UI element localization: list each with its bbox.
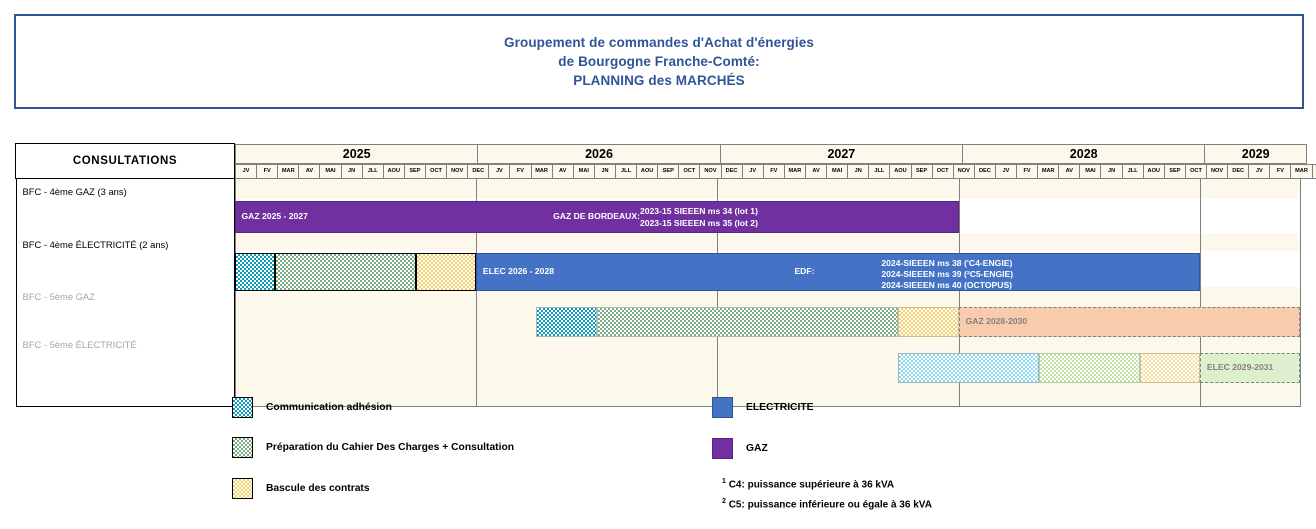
chart-body-row: BFC - 4ème GAZ (3 ans)BFC - 4ème ÉLECTRI…: [16, 179, 1301, 408]
month-header-2025-MAR: MAR: [278, 164, 299, 178]
month-header-2028-NOV: NOV: [1207, 164, 1228, 178]
row-label-0: BFC - 4ème GAZ (3 ans): [17, 186, 127, 197]
title-line-1: Groupement de commandes d'Achat d'énergi…: [504, 33, 814, 52]
gantt-bar-label-0-0: GAZ 2025 - 2027: [242, 211, 308, 222]
month-header-cell: JVFVMARAVMAIJNJLLAOUSEPOCTNOVDECJVFVMARA…: [235, 164, 1301, 179]
month-header-2028-MAI: MAI: [1080, 164, 1101, 178]
footnote-2-marker: 2: [722, 498, 726, 505]
gantt-bar-1-communication: [235, 253, 275, 291]
month-header-2028-AV: AV: [1059, 164, 1080, 178]
year-header-2025: 2025: [236, 144, 478, 163]
month-header-2025-SEP: SEP: [404, 164, 425, 178]
legend-item-preparation: Préparation du Cahier Des Charges + Cons…: [232, 437, 514, 458]
gantt-bar-label-0-2: 2023-15 SIEEEN ms 34 (lot 1): [640, 206, 758, 217]
month-header-2025-JV: JV: [236, 164, 257, 178]
gantt-bar-1-electricite: [476, 253, 1200, 291]
month-header-2025-AV: AV: [299, 164, 320, 178]
gantt-bar-label-4-1: EDF:: [794, 266, 814, 277]
gantt-bar-2-bascule: [898, 307, 958, 337]
month-header-2026-MAI: MAI: [573, 164, 594, 178]
gantt-bar-label-4-2: 2024-SIEEEN ms 38 ('C4-ENGIE): [881, 258, 1012, 269]
title-line-3: PLANNING des MARCHÉS: [573, 71, 745, 90]
legend-label-electricite: ELECTRICITE: [746, 402, 814, 413]
gantt-bar-label-8-0: GAZ 2028-2030: [966, 316, 1028, 327]
month-header-2025-JN: JN: [341, 164, 362, 178]
swatch-electricite-icon: [712, 397, 733, 418]
footnote-1-marker: 1: [722, 478, 726, 485]
month-header-2026-MAR: MAR: [531, 164, 552, 178]
year-header-row: CONSULTATIONS 20252026202720282029: [16, 144, 1301, 164]
swatch-gaz-icon: [712, 438, 733, 459]
consultations-header: CONSULTATIONS: [16, 144, 235, 179]
month-header-2026-AV: AV: [552, 164, 573, 178]
row-label-2: BFC - 5ème GAZ: [17, 291, 95, 302]
month-header-2028-AOU: AOU: [1143, 164, 1164, 178]
planning-page: Groupement de commandes d'Achat d'énergi…: [0, 0, 1316, 529]
gantt-bar-label-4-4: 2024-SIEEEN ms 40 (OCTOPUS): [881, 280, 1012, 291]
gantt-bar-label-4-0: ELEC 2026 - 2028: [483, 266, 554, 277]
month-header-2028-MAR: MAR: [1038, 164, 1059, 178]
legend-item-electricite: ELECTRICITE: [712, 397, 814, 418]
swatch-preparation-icon: [232, 437, 253, 458]
gantt-bar-3-preparation: [1039, 353, 1140, 383]
gantt-bar-2-communication: [536, 307, 596, 337]
month-header-2026-FV: FV: [510, 164, 531, 178]
month-header-2026-DEC: DEC: [721, 164, 742, 178]
legend-label-preparation: Préparation du Cahier Des Charges + Cons…: [266, 442, 514, 453]
year-header-2027: 2027: [720, 144, 962, 163]
gantt-bar-label-12-0: ELEC 2029-2031: [1207, 362, 1273, 373]
month-header-2028-JLL: JLL: [1122, 164, 1143, 178]
month-strip: JVFVMARAVMAIJNJLLAOUSEPOCTNOVDECJVFVMARA…: [235, 164, 1316, 179]
month-header-2025-AOU: AOU: [383, 164, 404, 178]
month-header-2028-JN: JN: [1101, 164, 1122, 178]
year-header-2026: 2026: [478, 144, 720, 163]
month-header-2025-MAI: MAI: [320, 164, 341, 178]
year-header-2028: 2028: [963, 144, 1205, 163]
row-label-3: BFC - 5ème ÉLECTRICITÉ: [17, 339, 137, 350]
month-header-2025-OCT: OCT: [425, 164, 446, 178]
month-header-2027-OCT: OCT: [932, 164, 953, 178]
month-header-2026-JN: JN: [594, 164, 615, 178]
month-header-2025-DEC: DEC: [468, 164, 489, 178]
month-header-2028-DEC: DEC: [1228, 164, 1249, 178]
month-header-2028-OCT: OCT: [1185, 164, 1206, 178]
month-header-2026-NOV: NOV: [700, 164, 721, 178]
month-header-2027-DEC: DEC: [974, 164, 995, 178]
month-header-2027-FV: FV: [763, 164, 784, 178]
month-header-2027-NOV: NOV: [953, 164, 974, 178]
year-header-2029: 2029: [1205, 144, 1307, 163]
month-header-2027-JN: JN: [848, 164, 869, 178]
gantt-bar-2-preparation: [597, 307, 899, 337]
month-header-2028-FV: FV: [1017, 164, 1038, 178]
year-header-cell: 20252026202720282029: [235, 144, 1301, 164]
gantt-bar-label-0-1: GAZ DE BORDEAUX:: [553, 211, 640, 222]
month-header-2026-SEP: SEP: [658, 164, 679, 178]
swatch-communication-icon: [232, 397, 253, 418]
footnote-2-text: C5: puissance inférieure ou égale à 36 k…: [729, 499, 932, 510]
month-header-2025-NOV: NOV: [447, 164, 468, 178]
month-header-2026-OCT: OCT: [679, 164, 700, 178]
month-header-2029-AV: AV: [1312, 164, 1316, 178]
legend-item-communication: Communication adhésion: [232, 397, 392, 418]
legend-label-gaz: GAZ: [746, 443, 768, 454]
month-header-2026-AOU: AOU: [637, 164, 658, 178]
month-header-2027-MAR: MAR: [784, 164, 805, 178]
month-header-2027-MAI: MAI: [827, 164, 848, 178]
gantt-bar-3-bascule: [1140, 353, 1200, 383]
month-header-2025-JLL: JLL: [362, 164, 383, 178]
swatch-bascule-icon: [232, 478, 253, 499]
legend-item-bascule: Bascule des contrats: [232, 478, 370, 499]
legend: Communication adhésion Préparation du Ca…: [0, 392, 1316, 522]
row-label-column: BFC - 4ème GAZ (3 ans)BFC - 4ème ÉLECTRI…: [16, 179, 235, 408]
title-line-2: de Bourgogne Franche-Comté:: [558, 52, 759, 71]
gantt-bar-1-bascule: [416, 253, 476, 291]
gantt-bar-label-4-3: 2024-SIEEEN ms 39 (²C5-ENGIE): [881, 269, 1013, 280]
month-header-2027-JV: JV: [742, 164, 763, 178]
footnote-1: 1 C4: puissance supérieure à 36 kVA: [722, 478, 894, 490]
month-header-2026-JLL: JLL: [615, 164, 636, 178]
month-header-2029-JV: JV: [1249, 164, 1270, 178]
month-header-2029-FV: FV: [1270, 164, 1291, 178]
year-strip: 20252026202720282029: [235, 144, 1307, 164]
gantt-bar-3-communication: [898, 353, 1039, 383]
planning-gantt-table: CONSULTATIONS 20252026202720282029 JVFVM…: [15, 143, 1301, 407]
footnote-2: 2 C5: puissance inférieure ou égale à 36…: [722, 498, 932, 510]
gantt-bar-1-preparation: [275, 253, 416, 291]
month-header-2027-AOU: AOU: [890, 164, 911, 178]
month-header-2027-JLL: JLL: [869, 164, 890, 178]
legend-label-bascule: Bascule des contrats: [266, 483, 370, 494]
month-header-2028-JV: JV: [995, 164, 1016, 178]
month-header-2029-MAR: MAR: [1291, 164, 1312, 178]
title-banner: Groupement de commandes d'Achat d'énergi…: [14, 14, 1304, 109]
row-label-1: BFC - 4ème ÉLECTRICITÉ (2 ans): [17, 239, 169, 250]
month-header-2028-SEP: SEP: [1164, 164, 1185, 178]
month-header-2027-SEP: SEP: [911, 164, 932, 178]
month-header-2025-FV: FV: [257, 164, 278, 178]
legend-label-communication: Communication adhésion: [266, 402, 392, 413]
month-header-2026-JV: JV: [489, 164, 510, 178]
footnote-1-text: C4: puissance supérieure à 36 kVA: [729, 479, 894, 490]
month-header-2027-AV: AV: [805, 164, 826, 178]
timeline-column: GAZ 2025 - 2027GAZ DE BORDEAUX:2023-15 S…: [235, 179, 1301, 408]
gantt-bar-label-0-3: 2023-15 SIEEEN ms 35 (lot 2): [640, 218, 758, 229]
legend-item-gaz: GAZ: [712, 438, 768, 459]
